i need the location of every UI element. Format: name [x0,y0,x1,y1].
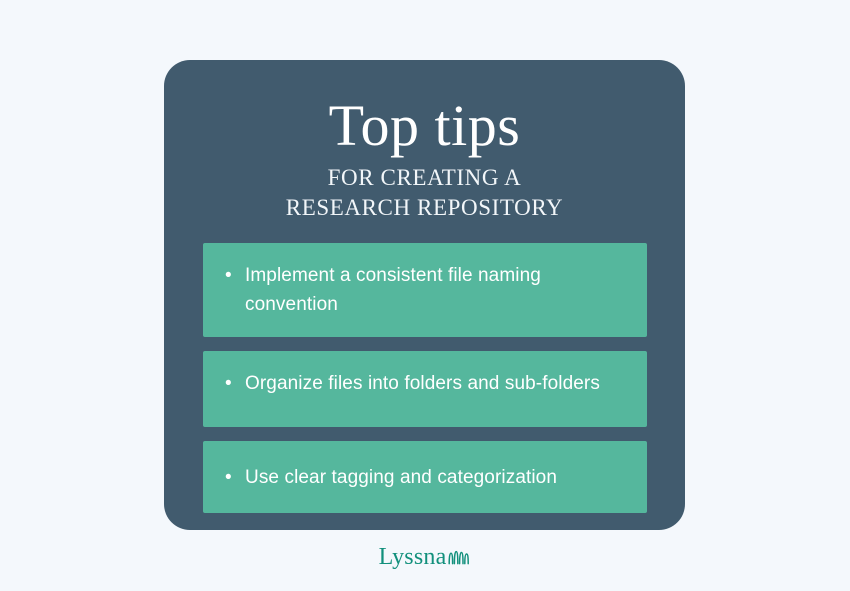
subtitle-line-2: RESEARCH REPOSITORY [164,193,685,223]
bullet-icon: • [225,369,245,398]
bullet-icon: • [225,261,245,290]
list-item-text: Implement a consistent file naming conve… [245,261,625,319]
list-item-text: Use clear tagging and categorization [245,463,625,492]
brand-logo: Lyssna [0,544,850,570]
bullet-icon: • [225,463,245,492]
tips-list: • Implement a consistent file naming con… [203,243,647,513]
list-item: • Implement a consistent file naming con… [203,243,647,337]
tips-card: Top tips FOR CREATING A RESEARCH REPOSIT… [164,60,685,530]
poster-canvas: Top tips FOR CREATING A RESEARCH REPOSIT… [0,0,850,591]
sound-wave-icon [447,549,471,566]
brand-logo-inner: Lyssna [379,544,472,570]
page-subtitle: FOR CREATING A RESEARCH REPOSITORY [164,163,685,223]
page-title: Top tips [164,95,685,157]
brand-name: Lyssna [379,544,447,570]
list-item-text: Organize files into folders and sub-fold… [245,369,625,398]
list-item: • Organize files into folders and sub-fo… [203,351,647,427]
list-item: • Use clear tagging and categorization [203,441,647,513]
subtitle-line-1: FOR CREATING A [164,163,685,193]
